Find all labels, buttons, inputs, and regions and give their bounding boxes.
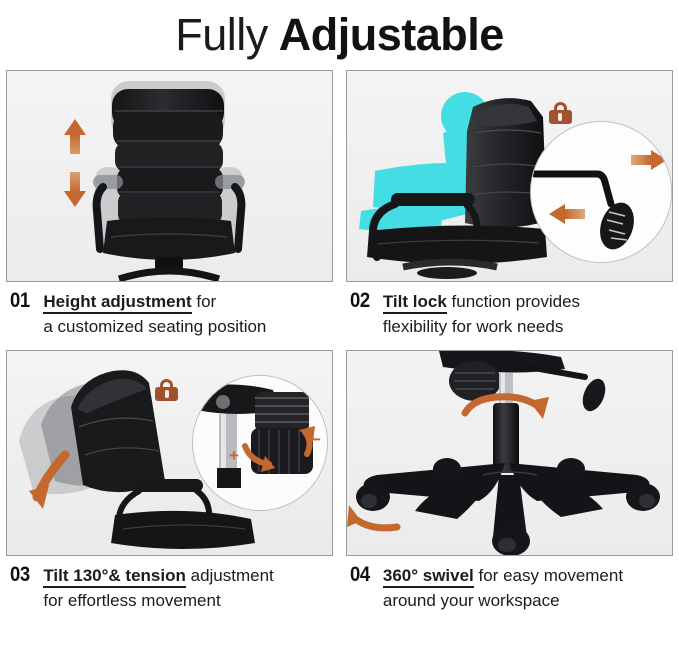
feature-line2-02: flexibility for work needs [383,316,580,338]
lock-icon [155,379,178,400]
tilt-lock-detail-circle [530,121,672,263]
feature-line2-04: around your workspace [383,590,623,612]
tension-knob-art [193,376,327,510]
arrow-up-icon [64,119,86,155]
feature-cell-02: 02 Tilt lock function provides flexibili… [340,70,679,338]
page-title: Fully Adjustable [0,0,679,70]
height-adjustment-illustration [6,70,333,282]
feature-rest-03: adjustment [186,566,274,585]
arrow-left-icon [549,204,585,224]
feature-highlight-03: Tilt 130°& tension [43,566,186,588]
feature-text-01: Height adjustment for a customized seati… [43,291,266,338]
feature-line2-01: a customized seating position [43,316,266,338]
swivel-illustration [346,350,673,556]
lock-icon [549,102,572,123]
feature-grid: 01 Height adjustment for a customized se… [0,70,679,612]
tilt-tension-illustration: + − [6,350,333,556]
chair-height-art [7,71,332,281]
feature-caption-02: 02 Tilt lock function provides flexibili… [346,291,674,338]
feature-highlight-02: Tilt lock [383,292,447,314]
plus-sign: + [229,446,239,466]
feature-text-02: Tilt lock function provides flexibility … [383,291,580,338]
feature-number-03: 03 [10,565,30,585]
arrow-right-icon [631,150,667,170]
feature-caption-01: 01 Height adjustment for a customized se… [6,291,334,338]
feature-highlight-01: Height adjustment [43,292,191,314]
feature-highlight-04: 360° swivel [383,566,474,588]
minus-sign: − [311,430,321,450]
feature-cell-03: + − 03 Tilt 130°& tension adjustment for… [0,350,340,612]
title-word-light: Fully [175,9,268,61]
chair-base-art [347,351,672,555]
feature-rest-01: for [192,292,217,311]
arrow-down-icon [64,171,86,207]
feature-text-04: 360° swivel for easy movement around you… [383,565,623,612]
feature-caption-04: 04 360° swivel for easy movement around … [346,565,674,612]
feature-number-04: 04 [350,565,370,585]
feature-cell-01: 01 Height adjustment for a customized se… [0,70,340,338]
feature-cell-04: 04 360° swivel for easy movement around … [340,350,679,612]
title-word-bold: Adjustable [279,9,504,61]
feature-line2-03: for effortless movement [43,590,273,612]
feature-text-03: Tilt 130°& tension adjustment for effort… [43,565,273,612]
feature-rest-04: for easy movement [474,566,623,585]
tension-knob-detail-circle: + − [192,375,328,511]
feature-number-02: 02 [350,291,370,311]
feature-number-01: 01 [10,291,30,311]
tilt-lever-art [531,122,671,262]
tilt-lock-illustration [346,70,673,282]
feature-caption-03: 03 Tilt 130°& tension adjustment for eff… [6,565,334,612]
feature-rest-02: function provides [447,292,580,311]
